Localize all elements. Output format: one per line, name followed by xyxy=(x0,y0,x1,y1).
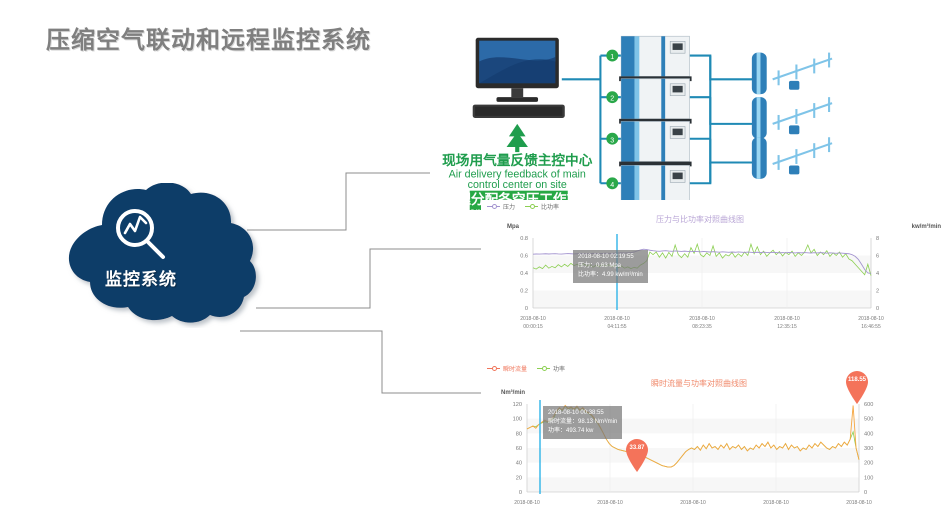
legend-marker-icon xyxy=(537,366,550,372)
air-tank-and-pipeline xyxy=(752,53,832,179)
chart2-max-marker[interactable]: 118.55 xyxy=(844,370,870,404)
svg-text:20: 20 xyxy=(516,475,522,481)
svg-text:6: 6 xyxy=(876,254,879,260)
slide-canvas: 压缩空气联动和远程监控系统 监控系统 xyxy=(0,0,945,529)
svg-text:2018-08-10: 2018-08-10 xyxy=(604,316,630,322)
svg-text:80: 80 xyxy=(516,431,522,437)
svg-text:12:35:15: 12:35:15 xyxy=(777,324,797,330)
svg-text:2018-08-10: 2018-08-10 xyxy=(680,500,706,506)
svg-text:4: 4 xyxy=(876,271,879,277)
svg-text:2018-08-10: 2018-08-10 xyxy=(689,316,715,322)
chart1-legend-label-1: 比功率 xyxy=(541,202,559,211)
tree-icon xyxy=(507,124,528,152)
svg-text:00:00:15: 00:00:15 xyxy=(523,324,543,330)
svg-text:2018-08-10: 2018-08-10 xyxy=(514,500,540,506)
chart2-tooltip-line1: 瞬时流量：98.13 Nm³/min xyxy=(548,418,617,427)
svg-text:0.2: 0.2 xyxy=(520,289,528,295)
desktop-monitor-icon xyxy=(473,38,565,118)
svg-text:8: 8 xyxy=(876,236,879,242)
legend-marker-icon xyxy=(525,204,538,210)
connector-to-chart2 xyxy=(240,331,487,393)
svg-text:04:11:55: 04:11:55 xyxy=(607,324,626,330)
pin-icon xyxy=(844,370,870,404)
chart1-tooltip-time: 2018-08-10 02:19:55 xyxy=(578,253,643,262)
chart2-tooltip: 2018-08-10 00:38:55 瞬时流量：98.13 Nm³/min 功… xyxy=(543,406,622,439)
svg-text:0: 0 xyxy=(519,490,522,496)
chart1-legend-label-0: 压力 xyxy=(503,202,515,211)
diagram-caption-cn: 现场用气量反馈主控中心 xyxy=(442,152,593,168)
chart2-legend[interactable]: 瞬时流量 功率 xyxy=(487,364,565,373)
chart2-title: 瞬时流量与功率对照曲线图 xyxy=(651,378,747,389)
chart2-tooltip-line2: 功率：493.74 kw xyxy=(548,427,617,436)
diagram-caption-en-line2: control center on site xyxy=(468,179,567,191)
svg-text:0: 0 xyxy=(876,306,879,312)
chart2-legend-label-1: 功率 xyxy=(553,364,565,373)
svg-text:4: 4 xyxy=(610,181,614,189)
chart2-tooltip-time: 2018-08-10 00:38:55 xyxy=(548,409,617,418)
svg-text:2018-08-10: 2018-08-10 xyxy=(858,316,884,322)
page-title: 压缩空气联动和远程监控系统 xyxy=(46,20,371,55)
svg-text:0: 0 xyxy=(864,490,867,496)
chart1-legend-item-1[interactable]: 比功率 xyxy=(525,202,559,211)
svg-text:2018-08-10: 2018-08-10 xyxy=(597,500,623,506)
svg-text:0.4: 0.4 xyxy=(520,271,528,277)
svg-text:0.6: 0.6 xyxy=(520,254,528,260)
svg-text:120: 120 xyxy=(513,402,522,408)
system-diagram: 1 2 3 4 xyxy=(437,14,942,204)
svg-text:60: 60 xyxy=(516,446,522,452)
chart1-y2-axis-unit: kw/m³/min xyxy=(912,224,941,230)
svg-text:100: 100 xyxy=(513,417,522,423)
svg-text:1: 1 xyxy=(610,53,614,61)
svg-text:2018-08-10: 2018-08-10 xyxy=(520,316,546,322)
svg-text:300: 300 xyxy=(864,446,873,452)
svg-text:100: 100 xyxy=(864,475,873,481)
svg-text:08:23:35: 08:23:35 xyxy=(692,324,712,330)
chart1-legend[interactable]: 压力 比功率 xyxy=(487,202,559,211)
svg-text:2018-08-10: 2018-08-10 xyxy=(774,316,800,322)
chart-flow-power: 瞬时流量 功率 瞬时流量与功率对照曲线图 Nm³/min xyxy=(481,362,945,529)
chart2-y-axis-unit: Nm³/min xyxy=(501,390,525,396)
chart1-y-axis-unit: Mpa xyxy=(507,224,519,230)
svg-text:400: 400 xyxy=(864,431,873,437)
legend-marker-icon xyxy=(487,204,500,210)
chart2-min-marker[interactable]: 33.87 xyxy=(624,438,650,472)
svg-text:0: 0 xyxy=(525,306,528,312)
connector-to-chart1 xyxy=(256,249,487,308)
svg-text:2018-08-10: 2018-08-10 xyxy=(763,500,789,506)
monitoring-cloud[interactable]: 监控系统 xyxy=(36,183,286,323)
chart1-legend-item-0[interactable]: 压力 xyxy=(487,202,515,211)
pin-icon xyxy=(624,438,650,472)
chart2-legend-item-0[interactable]: 瞬时流量 xyxy=(487,364,527,373)
svg-text:0.8: 0.8 xyxy=(520,236,528,242)
chart-pressure-specific-power: 压力 比功率 压力与比功率对照曲线图 Mpa kw/m³/min xyxy=(481,200,945,334)
magnifier-chart-icon xyxy=(109,205,175,265)
chart2-legend-item-1[interactable]: 功率 xyxy=(537,364,565,373)
svg-text:2: 2 xyxy=(610,95,614,103)
cloud-label: 监控系统 xyxy=(36,265,246,290)
svg-text:16:46:55: 16:46:55 xyxy=(861,324,881,330)
chart1-tooltip-line2: 比功率：4.99 kw/m³/min xyxy=(578,271,643,280)
node-badges: 1 2 3 4 xyxy=(606,50,618,190)
chart1-tooltip: 2018-08-10 02:19:55 压力：0.63 Mpa 比功率：4.99… xyxy=(573,250,648,283)
chart1-title: 压力与比功率对照曲线图 xyxy=(656,214,744,225)
svg-text:200: 200 xyxy=(864,461,873,467)
chart2-legend-label-0: 瞬时流量 xyxy=(503,364,527,373)
svg-text:40: 40 xyxy=(516,461,522,467)
chart2-max-marker-label: 118.55 xyxy=(844,377,870,383)
chart2-min-marker-label: 33.87 xyxy=(624,445,650,451)
compressor-units xyxy=(619,36,691,210)
svg-text:3: 3 xyxy=(610,136,614,144)
svg-text:2018-08-10: 2018-08-10 xyxy=(846,500,872,506)
svg-text:500: 500 xyxy=(864,417,873,423)
legend-marker-icon xyxy=(487,366,500,372)
chart1-tooltip-line1: 压力：0.63 Mpa xyxy=(578,262,643,271)
svg-text:2: 2 xyxy=(876,289,879,295)
